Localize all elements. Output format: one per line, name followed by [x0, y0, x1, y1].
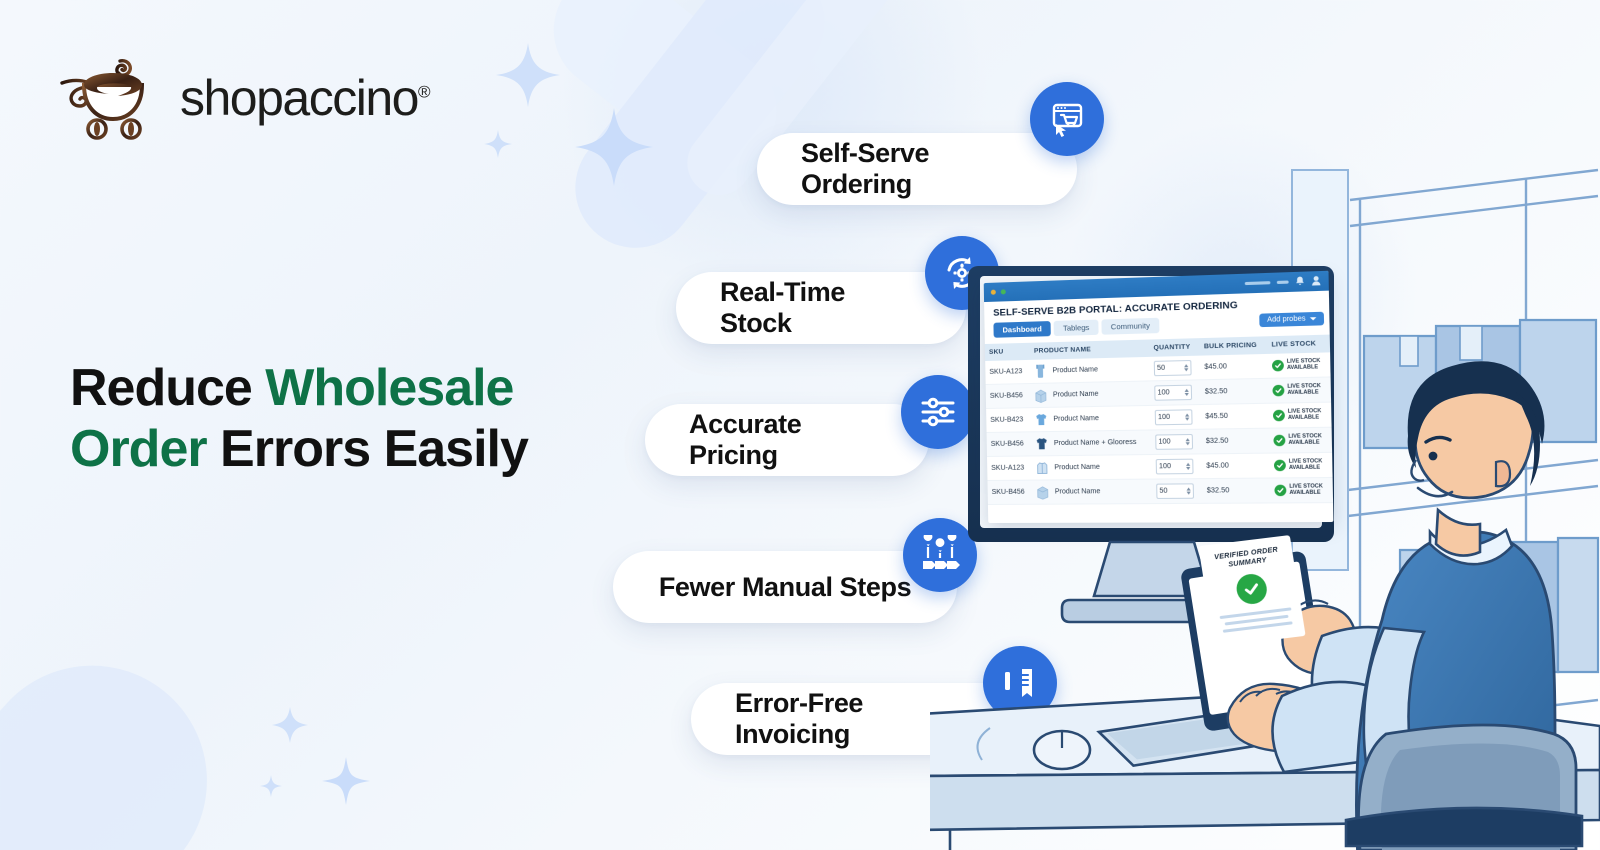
cell-quantity[interactable]: 100 — [1150, 405, 1201, 430]
quantity-stepper[interactable]: 100 — [1156, 459, 1194, 475]
cell-price: $32.50 — [1200, 378, 1268, 404]
stepper-arrows[interactable] — [1186, 438, 1190, 445]
table-row[interactable]: SKU-B456Product Name50$32.50LIVE STOCKAV… — [987, 477, 1333, 504]
check-icon — [1274, 485, 1286, 497]
table-row[interactable]: SKU-A123Product Name100$45.00LIVE STOCKA… — [987, 452, 1333, 480]
quantity-stepper[interactable]: 50 — [1156, 483, 1194, 499]
registered-mark: ® — [418, 82, 429, 101]
stock-label: LIVE STOCKAVAILABLE — [1289, 484, 1323, 497]
coffee-cup-cart-logo-icon — [58, 55, 170, 141]
titlebar-bar — [1245, 281, 1271, 285]
cell-sku: SKU-B423 — [986, 408, 1031, 433]
cell-quantity[interactable]: 100 — [1150, 380, 1201, 406]
green-check-icon — [1234, 572, 1268, 605]
brand-logo[interactable]: shopaccino® — [58, 55, 429, 141]
stepper-arrows[interactable] — [1185, 413, 1189, 420]
product-name-text: Product Name — [1055, 488, 1101, 495]
stock-label: LIVE STOCKAVAILABLE — [1288, 409, 1322, 422]
check-icon — [1272, 360, 1284, 372]
chevron-down-icon — [1310, 317, 1317, 320]
check-icon — [1273, 410, 1285, 422]
tab-dashboard[interactable]: Dashboard — [993, 321, 1051, 338]
feature-label: Real-Time Stock — [720, 277, 922, 339]
user-icon[interactable] — [1311, 272, 1321, 291]
cell-stock: LIVE STOCKAVAILABLE — [1269, 452, 1332, 478]
quantity-value: 100 — [1158, 414, 1170, 421]
product-name-text: Product Name + Glooress — [1054, 439, 1137, 447]
col-quantity: QUANTITY — [1149, 338, 1200, 357]
sparkle-icon — [270, 705, 310, 745]
cell-sku: SKU-A123 — [987, 456, 1032, 481]
cell-product: Product Name — [1032, 479, 1152, 504]
sparkle-icon — [258, 773, 284, 799]
cell-sku: SKU-B456 — [987, 432, 1032, 457]
tab-community[interactable]: Community — [1101, 318, 1159, 335]
sparkle-icon — [493, 40, 563, 110]
table-body: SKU-A123Product Name50$45.00LIVE STOCKAV… — [985, 352, 1333, 504]
cell-stock: LIVE STOCKAVAILABLE — [1270, 477, 1333, 502]
cell-quantity[interactable]: 100 — [1151, 429, 1202, 454]
cell-stock: LIVE STOCKAVAILABLE — [1267, 352, 1330, 378]
feature-label: Accurate Pricing — [689, 409, 885, 471]
quantity-stepper[interactable]: 50 — [1154, 360, 1192, 376]
titlebar-bar — [1277, 281, 1289, 285]
cell-sku: SKU-B456 — [986, 384, 1031, 409]
add-product-button[interactable]: Add probes — [1259, 312, 1324, 327]
verified-order-summary-card: VERIFIED ORDERSUMMARY — [1198, 535, 1305, 647]
cell-quantity[interactable]: 100 — [1151, 454, 1202, 479]
cell-quantity[interactable]: 50 — [1152, 479, 1203, 504]
cell-product: Product Name — [1031, 381, 1151, 408]
stepper-arrows[interactable] — [1184, 364, 1188, 371]
stepper-arrows[interactable] — [1186, 487, 1190, 494]
add-product-label: Add probes — [1267, 315, 1306, 323]
cell-sku: SKU-A123 — [985, 360, 1030, 385]
cell-product: Product Name — [1030, 357, 1150, 384]
b2b-portal-screen[interactable]: SELF-SERVE B2B PORTAL: ACCURATE ORDERING… — [984, 271, 1334, 523]
sparkle-icon — [482, 128, 514, 160]
product-name-text: Product Name — [1052, 366, 1098, 374]
quantity-value: 100 — [1159, 463, 1171, 470]
product-name-text: Product Name — [1054, 464, 1100, 472]
tablet-title: VERIFIED ORDERSUMMARY — [1207, 544, 1287, 572]
cell-stock: LIVE STOCKAVAILABLE — [1268, 402, 1331, 428]
stock-label: LIVE STOCKAVAILABLE — [1288, 434, 1322, 447]
window-dot-yellow[interactable] — [991, 290, 996, 295]
check-icon — [1272, 385, 1284, 397]
stock-label: LIVE STOCKAVAILABLE — [1287, 383, 1321, 396]
sparkle-icon — [572, 105, 656, 189]
stepper-arrows[interactable] — [1186, 463, 1190, 470]
cell-price: $45.00 — [1202, 453, 1270, 479]
headline-line-2: Order Errors Easily — [70, 420, 528, 478]
quantity-value: 50 — [1157, 365, 1165, 372]
cell-price: $45.50 — [1201, 403, 1269, 429]
cell-stock: LIVE STOCKAVAILABLE — [1269, 427, 1332, 453]
feature-pill-accurate-pricing[interactable]: Accurate Pricing — [645, 404, 929, 476]
quantity-value: 100 — [1158, 438, 1170, 445]
col-bulk-pricing: BULK PRICING — [1200, 336, 1268, 355]
cell-sku: SKU-B456 — [987, 480, 1032, 504]
quantity-value: 50 — [1159, 488, 1167, 495]
col-sku: SKU — [985, 343, 1030, 361]
cell-price: $45.00 — [1200, 354, 1268, 380]
check-icon — [1273, 435, 1285, 447]
feature-label: Fewer Manual Steps — [659, 572, 911, 603]
stock-label: LIVE STOCKAVAILABLE — [1287, 358, 1321, 371]
bell-icon[interactable] — [1295, 272, 1305, 291]
col-live-stock: LIVE STOCK — [1267, 335, 1330, 354]
cell-price: $32.50 — [1201, 428, 1269, 454]
products-table: SKU PRODUCT NAME QUANTITY BULK PRICING L… — [985, 335, 1333, 505]
brand-name: shopaccino® — [180, 69, 429, 127]
headline-line-1: Reduce Wholesale — [70, 359, 513, 417]
quantity-stepper[interactable]: 100 — [1155, 409, 1193, 425]
cell-product: Product Name — [1031, 405, 1151, 431]
feature-pill-real-time-stock[interactable]: Real-Time Stock — [676, 272, 966, 344]
cell-quantity[interactable]: 50 — [1150, 356, 1201, 381]
stock-label: LIVE STOCKAVAILABLE — [1289, 459, 1323, 472]
product-name-text: Product Name — [1053, 391, 1099, 399]
quantity-stepper[interactable]: 100 — [1155, 434, 1193, 450]
decor-bar-bottom-left — [0, 618, 254, 850]
stepper-arrows[interactable] — [1185, 389, 1189, 396]
check-icon — [1274, 460, 1286, 472]
quantity-stepper[interactable]: 100 — [1154, 385, 1192, 401]
quantity-value: 100 — [1157, 389, 1169, 396]
cell-price: $32.50 — [1202, 478, 1270, 503]
window-dot-green[interactable] — [1001, 289, 1006, 294]
product-name-text: Product Name — [1053, 415, 1099, 423]
tab-tablegs[interactable]: Tablegs — [1054, 320, 1099, 336]
page-title: Reduce Wholesale Order Errors Easily — [70, 358, 630, 480]
cell-stock: LIVE STOCKAVAILABLE — [1268, 377, 1331, 403]
sparkle-icon — [320, 755, 372, 807]
cell-product: Product Name + Glooress — [1032, 430, 1152, 456]
cell-product: Product Name — [1032, 455, 1152, 481]
